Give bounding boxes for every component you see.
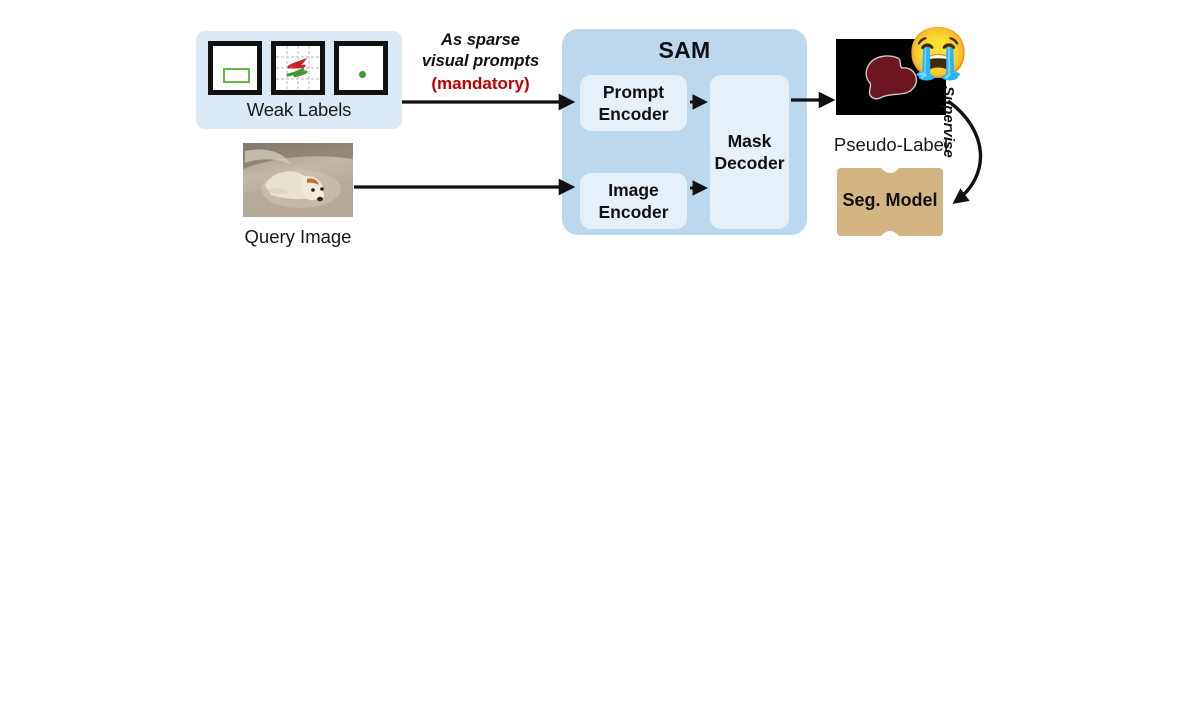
prompt-encoder-line-2: Encoder: [598, 104, 668, 124]
puppy-photo: [243, 143, 353, 217]
sam-container: SAM Prompt Encoder Image Encoder Mask De…: [562, 29, 807, 235]
point-thumbnail: [334, 41, 388, 95]
mask-decoder-label: Mask Decoder: [714, 130, 784, 174]
prompt-encoder-module: Prompt Encoder: [580, 75, 687, 131]
image-encoder-label: Image Encoder: [598, 179, 668, 223]
figure-canvas: Weak Labels Query I: [0, 0, 1200, 720]
mask-decoder-module: Mask Decoder: [710, 75, 789, 229]
seg-model-label: Seg. Model: [833, 190, 947, 211]
green-bounding-box-icon: [223, 68, 250, 83]
bounding-box-thumbnail: [208, 41, 262, 95]
mask-decoder-line-1: Mask: [728, 131, 772, 151]
image-encoder-line-2: Encoder: [598, 202, 668, 222]
prompt-encoder-label: Prompt Encoder: [598, 81, 668, 125]
scribble-thumbnail: [271, 41, 325, 95]
mask-decoder-line-2: Decoder: [714, 153, 784, 173]
annotation-line-2: visual prompts: [403, 51, 558, 72]
green-point-icon: [359, 71, 366, 78]
query-image-caption: Query Image: [188, 226, 408, 248]
supervise-arrow-label: Supervise: [940, 86, 957, 158]
weak-label-thumbnails: [208, 41, 388, 95]
prompt-encoder-line-1: Prompt: [603, 82, 664, 102]
annotation-mandatory: (mandatory): [403, 73, 558, 94]
sam-title: SAM: [562, 37, 807, 64]
image-encoder-line-1: Image: [608, 180, 659, 200]
scribble-strokes-icon: [276, 46, 320, 90]
image-encoder-module: Image Encoder: [580, 173, 687, 229]
weak-labels-panel: Weak Labels: [196, 31, 402, 129]
query-image-thumbnail: [243, 143, 353, 217]
annotation-line-1: As sparse: [403, 30, 558, 51]
sparse-prompt-annotation: As sparse visual prompts (mandatory): [403, 30, 558, 94]
weak-labels-caption: Weak Labels: [196, 99, 402, 121]
loudly-crying-face-icon: 😭: [907, 25, 963, 81]
